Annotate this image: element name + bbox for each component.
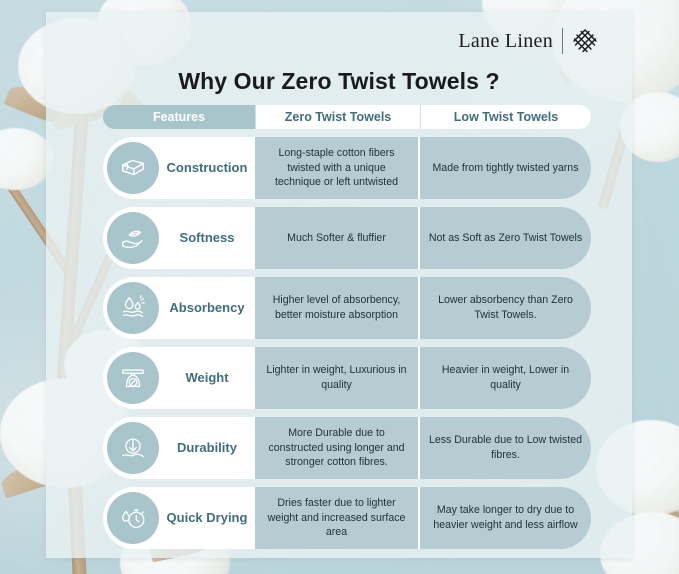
droplet-stopwatch-icon <box>107 492 159 544</box>
low-twist-cell: Heavier in weight, Lower in quality <box>420 347 591 409</box>
feature-cell: Softness <box>103 207 255 269</box>
brand-lockup: Lane Linen <box>458 28 598 54</box>
brand-name: Lane Linen <box>458 30 553 53</box>
low-twist-cell: May take longer to dry due to heavier we… <box>420 487 591 549</box>
feature-label: Quick Drying <box>165 511 255 526</box>
content-panel: Lane Linen Why Our Zero Twist Towels ? <box>46 12 632 558</box>
feature-cell: Quick Drying <box>103 487 255 549</box>
table-row: Weight Lighter in weight, Luxurious in q… <box>103 347 591 409</box>
zero-twist-cell: Long-staple cotton fibers twisted with a… <box>255 137 420 199</box>
infographic-canvas: Lane Linen Why Our Zero Twist Towels ? <box>0 0 679 574</box>
downward-arrow-durability-icon <box>107 422 159 474</box>
feature-label: Absorbency <box>165 301 255 316</box>
zero-twist-cell: Higher level of absorbency, better moist… <box>255 277 420 339</box>
table-header-row: Features Zero Twist Towels Low Twist Tow… <box>103 105 591 129</box>
comparison-table: Features Zero Twist Towels Low Twist Tow… <box>103 105 591 557</box>
feature-label: Weight <box>165 371 255 386</box>
table-row: Quick Drying Dries faster due to lighter… <box>103 487 591 549</box>
feature-cell: Weight <box>103 347 255 409</box>
low-twist-cell: Less Durable due to Low twisted fibres. <box>420 417 591 479</box>
water-droplets-absorb-icon <box>107 282 159 334</box>
header-features: Features <box>103 105 255 129</box>
brand-divider <box>562 28 563 54</box>
weighing-scale-icon <box>107 352 159 404</box>
low-twist-cell: Made from tightly twisted yarns <box>420 137 591 199</box>
page-title: Why Our Zero Twist Towels ? <box>46 68 632 95</box>
zero-twist-cell: More Durable due to constructed using lo… <box>255 417 420 479</box>
table-row: Construction Long-staple cotton fibers t… <box>103 137 591 199</box>
zero-twist-cell: Lighter in weight, Luxurious in quality <box>255 347 420 409</box>
table-row: Durability More Durable due to construct… <box>103 417 591 479</box>
header-low-twist-towels: Low Twist Towels <box>420 105 591 129</box>
feature-label: Durability <box>165 441 255 456</box>
table-row: Softness Much Softer & fluffier Not as S… <box>103 207 591 269</box>
feature-label: Softness <box>165 231 255 246</box>
zero-twist-cell: Dries faster due to lighter weight and i… <box>255 487 420 549</box>
table-row: Absorbency Higher level of absorbency, b… <box>103 277 591 339</box>
folded-towel-icon <box>107 142 159 194</box>
woven-diamond-logo-icon <box>572 28 598 54</box>
hand-feather-icon <box>107 212 159 264</box>
low-twist-cell: Not as Soft as Zero Twist Towels <box>420 207 591 269</box>
header-zero-twist-towels: Zero Twist Towels <box>255 105 420 129</box>
zero-twist-cell: Much Softer & fluffier <box>255 207 420 269</box>
low-twist-cell: Lower absorbency than Zero Twist Towels. <box>420 277 591 339</box>
feature-cell: Construction <box>103 137 255 199</box>
feature-cell: Durability <box>103 417 255 479</box>
feature-label: Construction <box>165 161 255 176</box>
feature-cell: Absorbency <box>103 277 255 339</box>
